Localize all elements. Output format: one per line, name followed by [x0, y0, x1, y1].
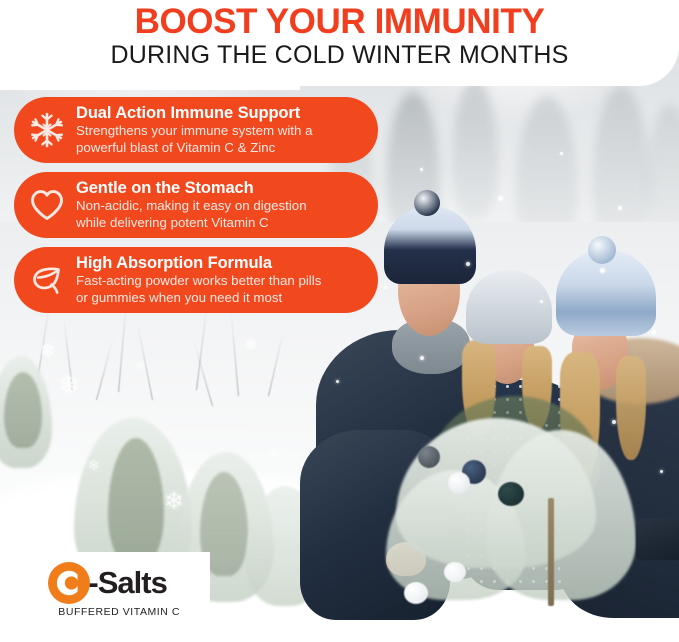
ornament-bauble — [448, 472, 470, 494]
ornament-bauble — [418, 446, 440, 468]
feature-pill-gentle-on-the-stomach: Gentle on the Stomach Non-acidic, making… — [14, 172, 378, 238]
feature-desc-line-1: Non-acidic, making it easy on digestion — [76, 198, 364, 214]
snowflake-icon: ❄ — [164, 490, 184, 514]
snowflake-icon: ❄ — [136, 362, 145, 373]
mother-hat-pompom — [588, 236, 616, 264]
c-salts-circle-icon — [47, 561, 91, 605]
feature-title: High Absorption Formula — [76, 254, 364, 272]
snow-speck — [618, 206, 622, 210]
snow-speck — [300, 462, 303, 465]
feature-desc-line-1: Fast-acting powder works better than pil… — [76, 273, 364, 289]
snowflake-icon: ❄ — [244, 338, 257, 354]
feature-pill-dual-action-immune-support: Dual Action Immune Support Strengthens y… — [14, 97, 378, 163]
snow-speck — [540, 300, 543, 303]
brand-wordmark: -Salts — [88, 567, 166, 598]
feature-title: Gentle on the Stomach — [76, 179, 364, 197]
page-title: BOOST YOUR IMMUNITY — [0, 2, 679, 42]
feature-text: Dual Action Immune Support Strengthens y… — [76, 104, 364, 156]
father-hat-pompom — [414, 190, 440, 216]
snowflake-icon: ❄ — [270, 448, 280, 460]
feature-desc-line-2: powerful blast of Vitamin C & Zinc — [76, 140, 364, 156]
product-marketing-image: ❄ ❄ ❄ ❄ ❄ ❄ ❄ BOOST YOUR IMMUNITY DURING… — [0, 0, 679, 642]
pine-trunk — [548, 498, 554, 606]
heart-icon — [24, 182, 70, 228]
snowflake-icon: ❄ — [40, 342, 56, 361]
snow-speck — [600, 268, 605, 273]
snow-speck — [420, 356, 424, 360]
ornament-bauble — [498, 482, 524, 506]
feature-desc-line-2: or gummies when you need it most — [76, 290, 364, 306]
snowflake-icon: ❄ — [88, 458, 100, 472]
feature-text: Gentle on the Stomach Non-acidic, making… — [76, 179, 364, 231]
feature-desc-line-1: Strengthens your immune system with a — [76, 123, 364, 139]
feature-text: High Absorption Formula Fast-acting powd… — [76, 254, 364, 306]
leaf-icon — [24, 257, 70, 303]
ornament-bauble — [404, 582, 428, 604]
ornament-bauble — [444, 562, 466, 582]
feature-pill-high-absorption-formula: High Absorption Formula Fast-acting powd… — [14, 247, 378, 313]
girl-hat — [466, 270, 552, 344]
snow-speck — [384, 286, 387, 289]
snow-speck — [420, 168, 423, 171]
snow-speck — [660, 470, 663, 473]
snow-speck — [612, 420, 616, 424]
snow-speck — [560, 152, 563, 155]
brand-tagline: BUFFERED VITAMIN C — [58, 606, 180, 618]
father-hat — [384, 206, 476, 284]
snow-speck — [336, 380, 339, 383]
brand-logo: -Salts BUFFERED VITAMIN C — [34, 561, 180, 618]
feature-title: Dual Action Immune Support — [76, 104, 364, 122]
snow-speck — [466, 262, 470, 266]
page-subtitle: DURING THE COLD WINTER MONTHS — [0, 41, 679, 70]
brand-logo-row: -Salts — [47, 561, 166, 605]
mother-boot — [636, 518, 679, 560]
snowflake-icon: ❄ — [58, 372, 80, 398]
snow-speck — [498, 196, 503, 201]
brand-logo-badge: -Salts BUFFERED VITAMIN C — [0, 552, 210, 626]
feature-desc-line-2: while delivering potent Vitamin C — [76, 215, 364, 231]
snowflake-icon — [24, 107, 70, 153]
snow-speck — [652, 330, 656, 334]
